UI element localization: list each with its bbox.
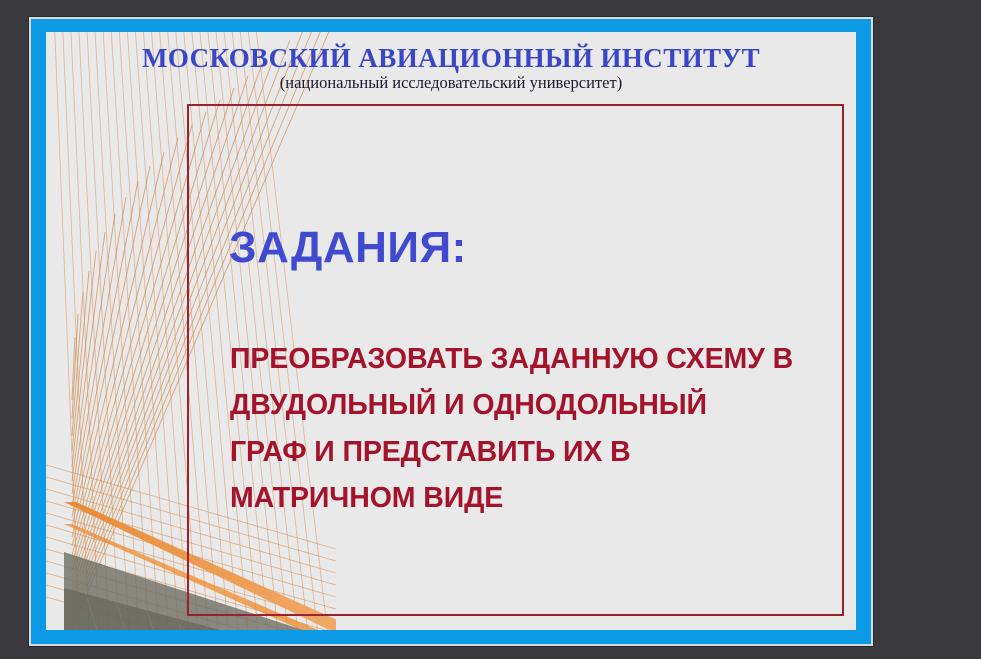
task-text-line: ДВУДОЛЬНЫЙ И ОДНОДОЛЬНЫЙ [230,382,828,428]
screenshot-root: МОСКОВСКИЙ АВИАЦИОННЫЙ ИНСТИТУТ (национа… [0,0,981,659]
task-text-line: МАТРИЧНОМ ВИДЕ [230,475,828,521]
university-subtitle: (национальный исследовательский универси… [46,73,856,93]
slide-blue-border: МОСКОВСКИЙ АВИАЦИОННЫЙ ИНСТИТУТ (национа… [31,19,871,644]
slide-header: МОСКОВСКИЙ АВИАЦИОННЫЙ ИНСТИТУТ (национа… [46,44,856,93]
content-frame: ЗАДАНИЯ: ПРЕОБРАЗОВАТЬ ЗАДАННУЮ СХЕМУ В … [187,104,844,616]
task-text-line: ПРЕОБРАЗОВАТЬ ЗАДАННУЮ СХЕМУ В [230,336,828,382]
slide-canvas: МОСКОВСКИЙ АВИАЦИОННЫЙ ИНСТИТУТ (национа… [46,32,856,630]
task-text-line: ГРАФ И ПРЕДСТАВИТЬ ИХ В [230,429,828,475]
task-text-block: ПРЕОБРАЗОВАТЬ ЗАДАННУЮ СХЕМУ В ДВУДОЛЬНЫ… [230,336,828,522]
slide-outer-rim: МОСКОВСКИЙ АВИАЦИОННЫЙ ИНСТИТУТ (национа… [29,17,873,646]
content-inner: ЗАДАНИЯ: ПРЕОБРАЗОВАТЬ ЗАДАННУЮ СХЕМУ В … [229,106,828,614]
slide-heading: ЗАДАНИЯ: [229,226,467,270]
university-title: МОСКОВСКИЙ АВИАЦИОННЫЙ ИНСТИТУТ [46,44,856,72]
